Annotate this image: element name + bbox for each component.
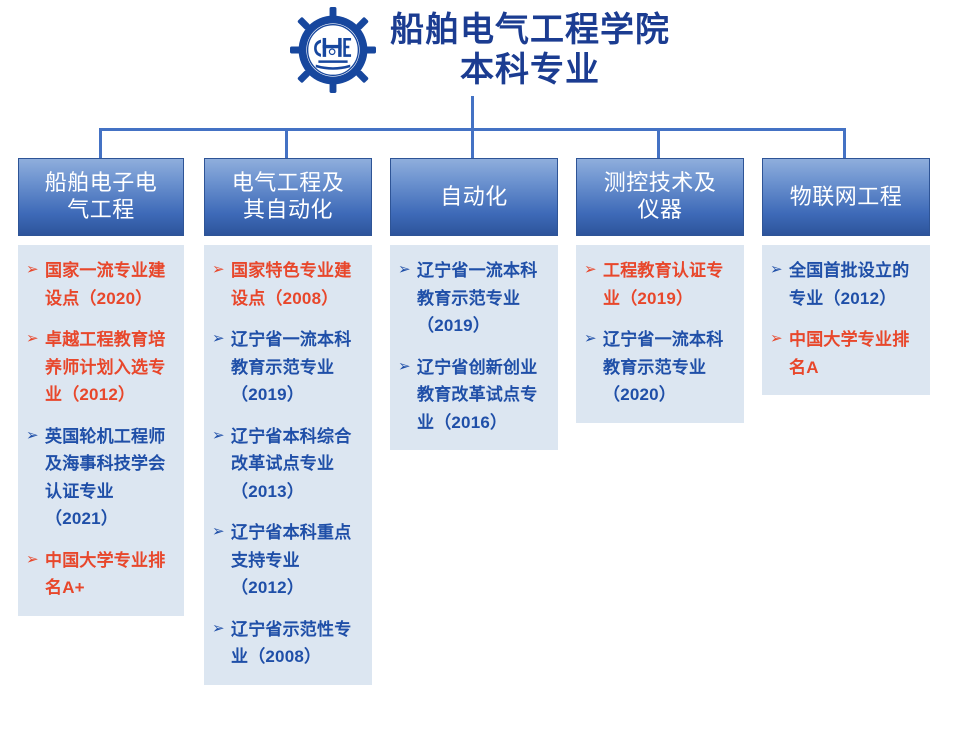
list-item: ➢ 中国大学专业排名A+ (26, 547, 176, 602)
column-ship-electronic-electrical-engineering: 船舶电子电 气工程 ➢ 国家一流专业建设点（2020） ➢ 卓越工程教育培养师计… (18, 158, 184, 616)
arrow-bullet-icon: ➢ (26, 257, 42, 283)
column-body-5: ➢ 全国首批设立的专业（2012） ➢ 中国大学专业排名A (762, 245, 930, 395)
arrow-bullet-icon: ➢ (26, 326, 42, 352)
list-item-label: 辽宁省一流本科教育示范专业（2020） (603, 326, 736, 409)
list-item: ➢ 中国大学专业排名A (770, 326, 922, 381)
column-body-3: ➢ 辽宁省一流本科教育示范专业（2019） ➢ 辽宁省创新创业教育改革试点专业（… (390, 245, 558, 450)
page-title: 船舶电气工程学院 本科专业 (390, 10, 670, 90)
list-item: ➢ 国家特色专业建设点（2008） (212, 257, 364, 312)
column-header-5[interactable]: 物联网工程 (762, 158, 930, 236)
arrow-bullet-icon: ➢ (770, 257, 786, 283)
list-item: ➢ 辽宁省创新创业教育改革试点专业（2016） (398, 354, 550, 437)
list-item-label: 英国轮机工程师及海事科技学会认证专业（2021） (45, 423, 176, 533)
list-item-label: 工程教育认证专业（2019） (603, 257, 736, 312)
list-item-label: 辽宁省一流本科教育示范专业（2019） (231, 326, 364, 409)
column-body-1: ➢ 国家一流专业建设点（2020） ➢ 卓越工程教育培养师计划入选专业（2012… (18, 245, 184, 616)
list-item-label: 辽宁省示范性专业（2008） (231, 616, 364, 671)
connector-lines (0, 96, 960, 162)
connector-drop-2 (285, 128, 288, 159)
list-item: ➢ 辽宁省本科综合改革试点专业（2013） (212, 423, 364, 506)
list-item-label: 卓越工程教育培养师计划入选专业（2012） (45, 326, 176, 409)
connector-drop-3 (471, 128, 474, 159)
list-item: ➢ 卓越工程教育培养师计划入选专业（2012） (26, 326, 176, 409)
list-item: ➢ 辽宁省本科重点支持专业（2012） (212, 519, 364, 602)
list-item-label: 全国首批设立的专业（2012） (789, 257, 922, 312)
list-item-label: 中国大学专业排名A (789, 326, 922, 381)
list-item: ➢ 辽宁省示范性专业（2008） (212, 616, 364, 671)
arrow-bullet-icon: ➢ (26, 547, 42, 573)
column-header-3[interactable]: 自动化 (390, 158, 558, 236)
arrow-bullet-icon: ➢ (212, 326, 228, 352)
column-automation: 自动化 ➢ 辽宁省一流本科教育示范专业（2019） ➢ 辽宁省创新创业教育改革试… (390, 158, 558, 450)
list-item-label: 中国大学专业排名A+ (45, 547, 176, 602)
list-item: ➢ 辽宁省一流本科教育示范专业（2019） (398, 257, 550, 340)
list-item: ➢ 全国首批设立的专业（2012） (770, 257, 922, 312)
list-item-label: 辽宁省本科重点支持专业（2012） (231, 519, 364, 602)
list-item-label: 国家特色专业建设点（2008） (231, 257, 364, 312)
connector-drop-1 (99, 128, 102, 159)
list-item-label: 辽宁省一流本科教育示范专业（2019） (417, 257, 550, 340)
arrow-bullet-icon: ➢ (398, 257, 414, 283)
list-item: ➢ 英国轮机工程师及海事科技学会认证专业（2021） (26, 423, 176, 533)
list-item: ➢ 工程教育认证专业（2019） (584, 257, 736, 312)
program-columns: 船舶电子电 气工程 ➢ 国家一流专业建设点（2020） ➢ 卓越工程教育培养师计… (0, 158, 960, 743)
connector-drop-5 (843, 128, 846, 159)
arrow-bullet-icon: ➢ (584, 257, 600, 283)
arrow-bullet-icon: ➢ (212, 423, 228, 449)
column-body-4: ➢ 工程教育认证专业（2019） ➢ 辽宁省一流本科教育示范专业（2020） (576, 245, 744, 423)
list-item: ➢ 辽宁省一流本科教育示范专业（2019） (212, 326, 364, 409)
list-item-label: 辽宁省本科综合改革试点专业（2013） (231, 423, 364, 506)
arrow-bullet-icon: ➢ (212, 257, 228, 283)
connector-stem (471, 96, 474, 130)
column-electrical-engineering-and-automation: 电气工程及 其自动化 ➢ 国家特色专业建设点（2008） ➢ 辽宁省一流本科教育… (204, 158, 372, 685)
list-item-label: 国家一流专业建设点（2020） (45, 257, 176, 312)
connector-drop-4 (657, 128, 660, 159)
list-item-label: 辽宁省创新创业教育改革试点专业（2016） (417, 354, 550, 437)
list-item: ➢ 国家一流专业建设点（2020） (26, 257, 176, 312)
arrow-bullet-icon: ➢ (212, 519, 228, 545)
college-seal-logo (290, 7, 376, 93)
chart-header: 船舶电气工程学院 本科专业 (0, 0, 960, 100)
column-header-2[interactable]: 电气工程及 其自动化 (204, 158, 372, 236)
arrow-bullet-icon: ➢ (770, 326, 786, 352)
arrow-bullet-icon: ➢ (212, 616, 228, 642)
column-measurement-control-technology-and-instruments: 测控技术及 仪器 ➢ 工程教育认证专业（2019） ➢ 辽宁省一流本科教育示范专… (576, 158, 744, 423)
arrow-bullet-icon: ➢ (398, 354, 414, 380)
column-internet-of-things-engineering: 物联网工程 ➢ 全国首批设立的专业（2012） ➢ 中国大学专业排名A (762, 158, 930, 395)
list-item: ➢ 辽宁省一流本科教育示范专业（2020） (584, 326, 736, 409)
column-body-2: ➢ 国家特色专业建设点（2008） ➢ 辽宁省一流本科教育示范专业（2019） … (204, 245, 372, 685)
column-header-4[interactable]: 测控技术及 仪器 (576, 158, 744, 236)
column-header-1[interactable]: 船舶电子电 气工程 (18, 158, 184, 236)
arrow-bullet-icon: ➢ (584, 326, 600, 352)
arrow-bullet-icon: ➢ (26, 423, 42, 449)
